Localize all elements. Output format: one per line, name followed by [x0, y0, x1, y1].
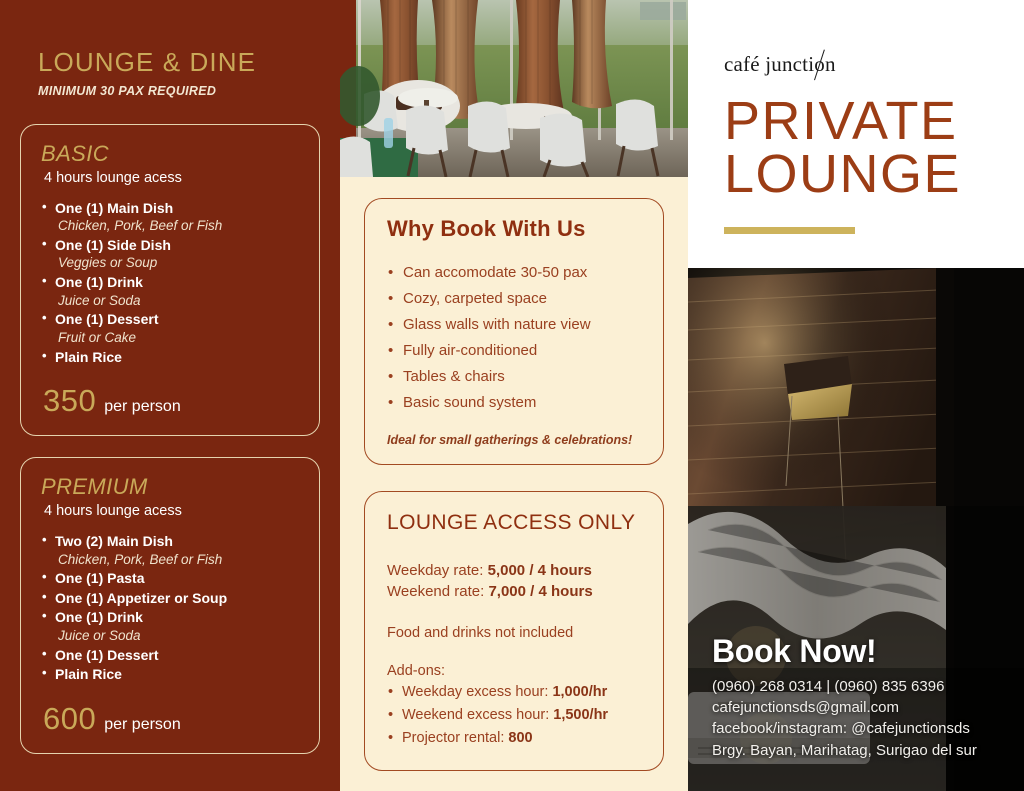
package-inclusions-list: Two (2) Main Dish Chicken, Pork, Beef or… [41, 532, 301, 683]
page-title: PRIVATE LOUNGE [724, 95, 1024, 201]
list-item: Glass walls with nature view [387, 312, 643, 338]
list-item: One (1) Dessert [41, 646, 301, 664]
left-panel: LOUNGE & DINE MINIMUM 30 PAX REQUIRED BA… [0, 0, 340, 791]
package-card-premium: PREMIUM 4 hours lounge acess Two (2) Mai… [20, 457, 320, 753]
package-access: 4 hours lounge acess [41, 503, 301, 519]
contact-address: Brgy. Bayan, Marihatag, Surigao del sur [712, 740, 1012, 761]
list-item: Can accomodate 30-50 pax [387, 260, 643, 286]
addon-label: Projector rental: [402, 730, 508, 746]
package-access: 4 hours lounge acess [41, 170, 301, 186]
list-item: One (1) Main Dish Chicken, Pork, Beef or… [41, 199, 301, 235]
list-item: Plain Rice [41, 348, 301, 366]
contact-details: (0960) 268 0314 | (0960) 835 6396 cafeju… [712, 676, 1012, 761]
inclusion-sub: Veggies or Soup [41, 254, 301, 272]
inclusion-main: Plain Rice [41, 665, 301, 683]
addon-label: Weekend excess hour: [402, 707, 553, 723]
price-amount: 350 [43, 383, 96, 419]
hero-line-1: PRIVATE [724, 95, 1024, 148]
list-item: One (1) Dessert Fruit or Cake [41, 310, 301, 346]
inclusion-sub: Chicken, Pork, Beef or Fish [41, 551, 301, 569]
package-name: BASIC [41, 141, 301, 167]
lounge-dine-title: LOUNGE & DINE [0, 48, 340, 77]
inclusion-main: One (1) Drink [41, 608, 301, 626]
weekday-rate-value: 5,000 / 4 hours [488, 562, 592, 579]
inclusion-sub: Juice or Soda [41, 627, 301, 645]
brand-text-post: n [825, 52, 836, 76]
contact-social[interactable]: facebook/instagram: @cafejunctionsds [712, 718, 1012, 739]
addons-label: Add-ons: [387, 663, 643, 679]
inclusion-main: One (1) Dessert [41, 646, 301, 664]
contact-email[interactable]: cafejunctionsds@gmail.com [712, 697, 1012, 718]
list-item: One (1) Drink Juice or Soda [41, 273, 301, 309]
weekend-rate-line: Weekend rate: 7,000 / 4 hours [387, 581, 643, 603]
contact-block: Book Now! (0960) 268 0314 | (0960) 835 6… [712, 633, 1012, 761]
inclusion-sub: Chicken, Pork, Beef or Fish [41, 217, 301, 235]
addon-label: Weekday excess hour: [402, 684, 552, 700]
inclusion-main: One (1) Appetizer or Soup [41, 589, 301, 607]
inclusion-main: Plain Rice [41, 348, 301, 366]
why-book-list: Can accomodate 30-50 pax Cozy, carpeted … [387, 260, 643, 416]
middle-panel: Why Book With Us Can accomodate 30-50 pa… [340, 0, 688, 791]
cafe-junction-logo: café junction [724, 52, 1024, 77]
list-item: One (1) Side Dish Veggies or Soup [41, 236, 301, 272]
gold-divider [724, 227, 855, 234]
list-item: Plain Rice [41, 665, 301, 683]
brand-text-pre: café juncti [724, 52, 814, 76]
package-name: PREMIUM [41, 474, 301, 500]
book-now-heading: Book Now! [712, 633, 1012, 670]
package-card-basic: BASIC 4 hours lounge acess One (1) Main … [20, 124, 320, 437]
weekday-rate-label: Weekday rate: [387, 562, 488, 579]
addon-value: 800 [508, 730, 532, 746]
list-item: Weekday excess hour: 1,000/hr [387, 681, 643, 704]
hero-line-2: LOUNGE [724, 148, 1024, 201]
package-price: 350 per person [41, 383, 301, 419]
contact-phone[interactable]: (0960) 268 0314 | (0960) 835 6396 [712, 676, 1012, 697]
list-item: One (1) Pasta [41, 569, 301, 587]
list-item: Tables & chairs [387, 364, 643, 390]
inclusion-sub: Fruit or Cake [41, 329, 301, 347]
list-item: Weekend excess hour: 1,500/hr [387, 704, 643, 727]
brochure-page: LOUNGE & DINE MINIMUM 30 PAX REQUIRED BA… [0, 0, 1024, 791]
list-item: Fully air-conditioned [387, 338, 643, 364]
inclusion-main: One (1) Main Dish [41, 199, 301, 217]
rate-block: Weekday rate: 5,000 / 4 hours Weekend ra… [387, 560, 643, 604]
list-item: One (1) Drink Juice or Soda [41, 608, 301, 644]
package-inclusions-list: One (1) Main Dish Chicken, Pork, Beef or… [41, 199, 301, 367]
cafe-interior-photo [340, 0, 688, 177]
list-item: Two (2) Main Dish Chicken, Pork, Beef or… [41, 532, 301, 568]
inclusion-main: One (1) Side Dish [41, 236, 301, 254]
addons-list: Weekday excess hour: 1,000/hr Weekend ex… [387, 681, 643, 750]
addon-value: 1,000/hr [552, 684, 607, 700]
lounge-access-card: LOUNGE ACCESS ONLY Weekday rate: 5,000 /… [364, 491, 664, 771]
why-book-note: Ideal for small gatherings & celebration… [387, 433, 643, 447]
price-amount: 600 [43, 701, 96, 737]
why-book-card: Why Book With Us Can accomodate 30-50 pa… [364, 198, 664, 465]
package-price: 600 per person [41, 701, 301, 737]
why-book-title: Why Book With Us [387, 216, 643, 242]
lounge-access-note: Food and drinks not included [387, 625, 643, 641]
addon-value: 1,500/hr [553, 707, 608, 723]
lounge-access-title: LOUNGE ACCESS ONLY [387, 511, 643, 535]
slashed-o-icon: o [814, 52, 825, 77]
price-unit: per person [104, 398, 181, 416]
weekend-rate-value: 7,000 / 4 hours [488, 583, 592, 600]
list-item: Projector rental: 800 [387, 727, 643, 750]
list-item: Cozy, carpeted space [387, 286, 643, 312]
inclusion-main: One (1) Pasta [41, 569, 301, 587]
weekday-rate-line: Weekday rate: 5,000 / 4 hours [387, 560, 643, 582]
list-item: Basic sound system [387, 390, 643, 416]
inclusion-main: Two (2) Main Dish [41, 532, 301, 550]
inclusion-sub: Juice or Soda [41, 292, 301, 310]
lounge-dine-subtitle: MINIMUM 30 PAX REQUIRED [0, 84, 340, 98]
inclusion-main: One (1) Drink [41, 273, 301, 291]
list-item: One (1) Appetizer or Soup [41, 589, 301, 607]
inclusion-main: One (1) Dessert [41, 310, 301, 328]
brand-block: café junction PRIVATE LOUNGE [688, 0, 1024, 234]
weekend-rate-label: Weekend rate: [387, 583, 488, 600]
right-panel: café junction PRIVATE LOUNGE [688, 0, 1024, 791]
price-unit: per person [104, 716, 181, 734]
